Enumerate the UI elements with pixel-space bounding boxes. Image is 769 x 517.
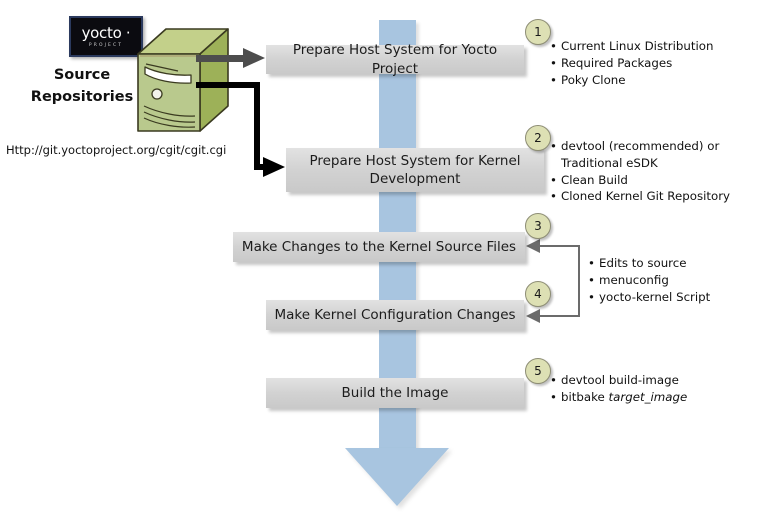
source-repositories-label: Source Repositories <box>22 65 142 109</box>
connector-notes-to-step3-line <box>537 245 580 247</box>
bitbake-command-prefix: bitbake <box>561 390 609 404</box>
step-number-badge-4: 4 <box>525 281 551 307</box>
connector-notes-to-step34-spine <box>578 245 580 317</box>
process-box-prepare-host-yocto[interactable]: Prepare Host System for Yocto Project <box>266 45 524 74</box>
step-number-badge-2: 2 <box>525 125 551 151</box>
process-box-prepare-host-kernel[interactable]: Prepare Host System for Kernel Developme… <box>286 148 544 192</box>
source-repositories-url: Http://git.yoctoproject.org/cgit/cgit.cg… <box>6 143 226 157</box>
source-label-line-2: Repositories <box>22 87 142 109</box>
list-item: Poky Clone <box>550 72 760 89</box>
connector-source-to-step1-line <box>196 55 248 62</box>
connector-notes-to-step4-line <box>537 315 580 317</box>
step5-notes-list: devtool build-image bitbake target_image <box>550 372 750 406</box>
list-item: Current Linux Distribution <box>550 38 760 55</box>
connector-source-to-step2-segment-v <box>254 82 260 170</box>
connector-source-to-step1-arrowhead <box>243 48 265 68</box>
process-box-make-source-changes[interactable]: Make Changes to the Kernel Source Files <box>233 232 525 262</box>
list-item: Edits to source <box>588 255 763 272</box>
list-item: Cloned Kernel Git Repository <box>550 188 750 205</box>
connector-source-to-step2-arrowhead <box>263 157 285 177</box>
source-label-line-1: Source <box>22 65 142 87</box>
step-number-badge-3: 3 <box>525 213 551 239</box>
connector-notes-to-step3-arrowhead <box>526 239 540 253</box>
connector-notes-to-step4-arrowhead <box>526 309 540 323</box>
list-item: menuconfig <box>588 272 763 289</box>
flow-arrow-head <box>345 448 449 506</box>
list-item: devtool build-image <box>550 372 750 389</box>
yocto-logo-subtitle: PROJECT <box>89 43 123 48</box>
step2-notes-list: devtool (recommended) or Traditional eSD… <box>550 138 750 205</box>
list-item: Clean Build <box>550 172 750 189</box>
process-box-make-config-changes[interactable]: Make Kernel Configuration Changes <box>266 300 524 330</box>
step3-step4-shared-notes-list: Edits to source menuconfig yocto-kernel … <box>588 255 763 305</box>
connector-source-to-step2-segment-h1 <box>196 82 260 88</box>
list-item: Required Packages <box>550 55 760 72</box>
list-item: devtool (recommended) or Traditional eSD… <box>550 138 750 172</box>
yocto-project-logo: yocto · PROJECT <box>69 16 143 57</box>
step1-notes-list: Current Linux Distribution Required Pack… <box>550 38 760 88</box>
process-box-build-the-image[interactable]: Build the Image <box>266 378 524 408</box>
step-number-badge-5: 5 <box>525 358 551 384</box>
list-item: bitbake target_image <box>550 389 750 406</box>
yocto-logo-wordmark: yocto · <box>82 26 131 41</box>
step-number-badge-1: 1 <box>525 19 551 45</box>
list-item: yocto-kernel Script <box>588 289 763 306</box>
bitbake-target-placeholder: target_image <box>609 390 688 404</box>
